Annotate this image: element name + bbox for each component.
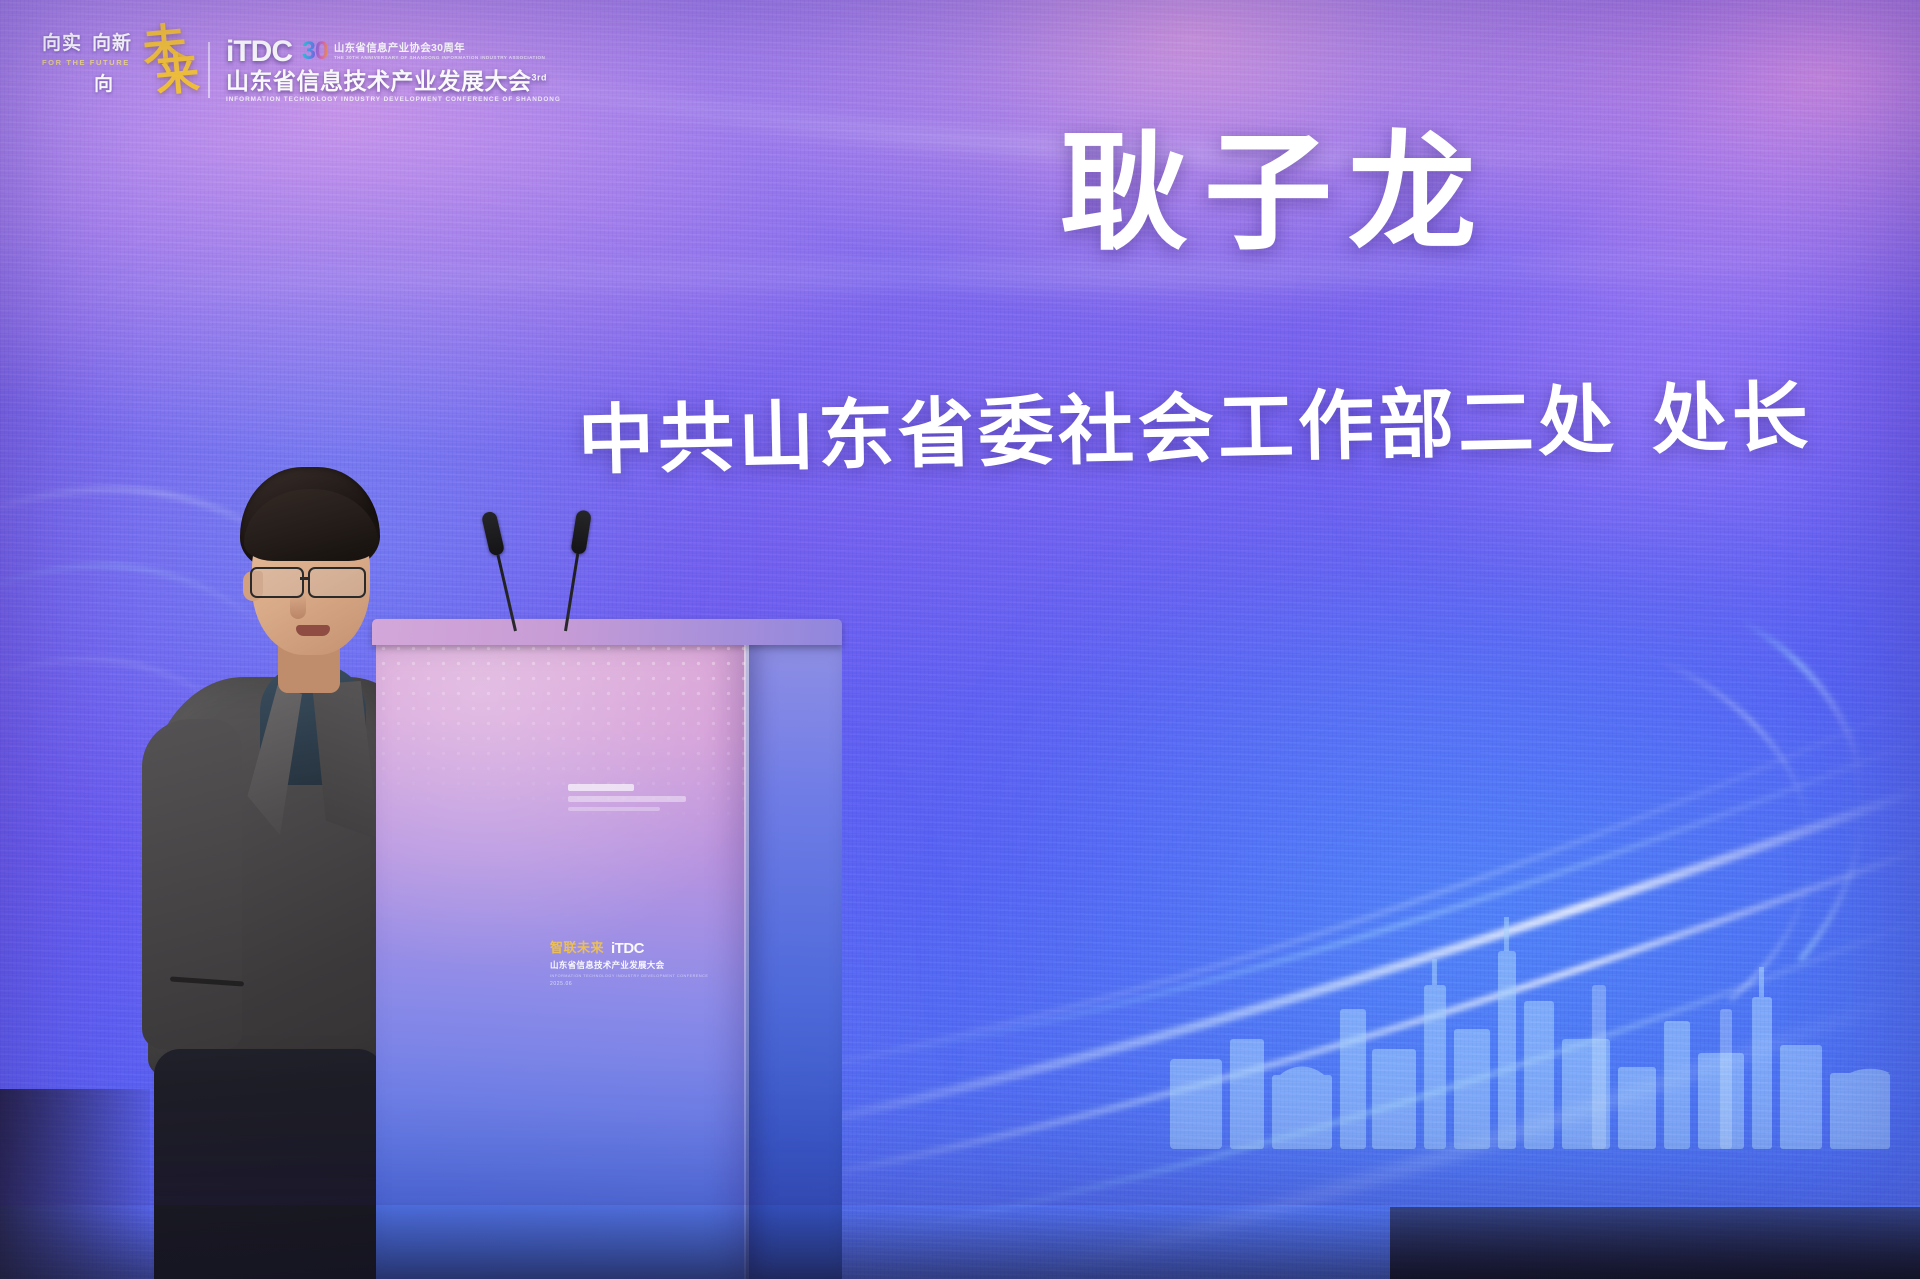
anniversary-label-cn: 山东省信息产业协会30周年 bbox=[334, 43, 545, 55]
brush-char-2: 来 bbox=[154, 56, 201, 96]
speaker-title-role: 处长 bbox=[1651, 375, 1813, 463]
conference-name-cn: 山东省信息技术产业发展大会3rd bbox=[226, 69, 561, 94]
conference-title-group: iTDC 30 山东省信息产业协会30周年 THE 30TH ANNIVERSA… bbox=[226, 37, 561, 103]
podium-edge-highlight bbox=[744, 641, 749, 1279]
speaker-title-org: 中共山东省委社会工作部二处 bbox=[577, 379, 1618, 484]
speaker-name: 耿子龙 bbox=[1060, 130, 1492, 258]
glasses-icon bbox=[248, 567, 376, 597]
podium-upper-logo bbox=[568, 784, 728, 836]
slogan-text-3: 向 bbox=[94, 69, 132, 96]
podium: 智联未来 iTDC 山东省信息技术产业发展大会 INFORMATION TECH… bbox=[372, 619, 842, 1279]
conference-slogan: 向实 向新 FOR THE FUTURE 向 未 来 bbox=[42, 34, 192, 106]
podium-logo-bar bbox=[568, 807, 660, 811]
conference-logo: 向实 向新 FOR THE FUTURE 向 未 来 iTDC 30 山东 bbox=[42, 34, 561, 106]
slogan-text-2: 向新 bbox=[92, 34, 132, 54]
slogan-text-1: 向实 bbox=[42, 34, 82, 54]
podium-conference-mark: 智联未来 iTDC 山东省信息技术产业发展大会 INFORMATION TECH… bbox=[550, 941, 700, 1003]
conference-name-en: INFORMATION TECHNOLOGY INDUSTRY DEVELOPM… bbox=[226, 96, 561, 103]
podium-logo-bar bbox=[568, 784, 634, 791]
glasses-lens-right bbox=[308, 567, 366, 598]
anniversary-number: 30 bbox=[302, 39, 328, 64]
podium-conference-en: INFORMATION TECHNOLOGY INDUSTRY DEVELOPM… bbox=[550, 974, 700, 978]
logo-divider bbox=[208, 42, 210, 98]
podium-conference-cn: 山东省信息技术产业发展大会 bbox=[550, 959, 700, 971]
speaker-mouth bbox=[296, 625, 330, 636]
podium-side-panel bbox=[746, 641, 842, 1279]
slogan-english: FOR THE FUTURE bbox=[42, 58, 132, 67]
foreground-left-shadow bbox=[0, 1089, 150, 1279]
conference-stage-photo: 向实 向新 FOR THE FUTURE 向 未 来 iTDC 30 山东 bbox=[0, 0, 1920, 1279]
podium-brand-gold: 智联未来 bbox=[550, 942, 604, 955]
itdc-brand: iTDC bbox=[226, 37, 292, 67]
glasses-lens-left bbox=[250, 567, 304, 598]
anniversary-badge: 30 山东省信息产业协会30周年 THE 30TH ANNIVERSARY OF… bbox=[302, 39, 545, 64]
podium-date: 2025.06 bbox=[550, 981, 700, 987]
podium-logo-bar bbox=[568, 796, 686, 802]
podium-top-surface bbox=[372, 619, 842, 645]
anniversary-label-en: THE 30TH ANNIVERSARY OF SHANDONG INFORMA… bbox=[334, 55, 545, 60]
conference-ordinal: 3rd bbox=[532, 72, 548, 82]
brush-calligraphy: 未 来 bbox=[141, 26, 201, 97]
foreground-barrier bbox=[1390, 1207, 1920, 1279]
speaker-left-arm bbox=[142, 719, 242, 1049]
podium-brand-itdc: iTDC bbox=[611, 941, 644, 956]
